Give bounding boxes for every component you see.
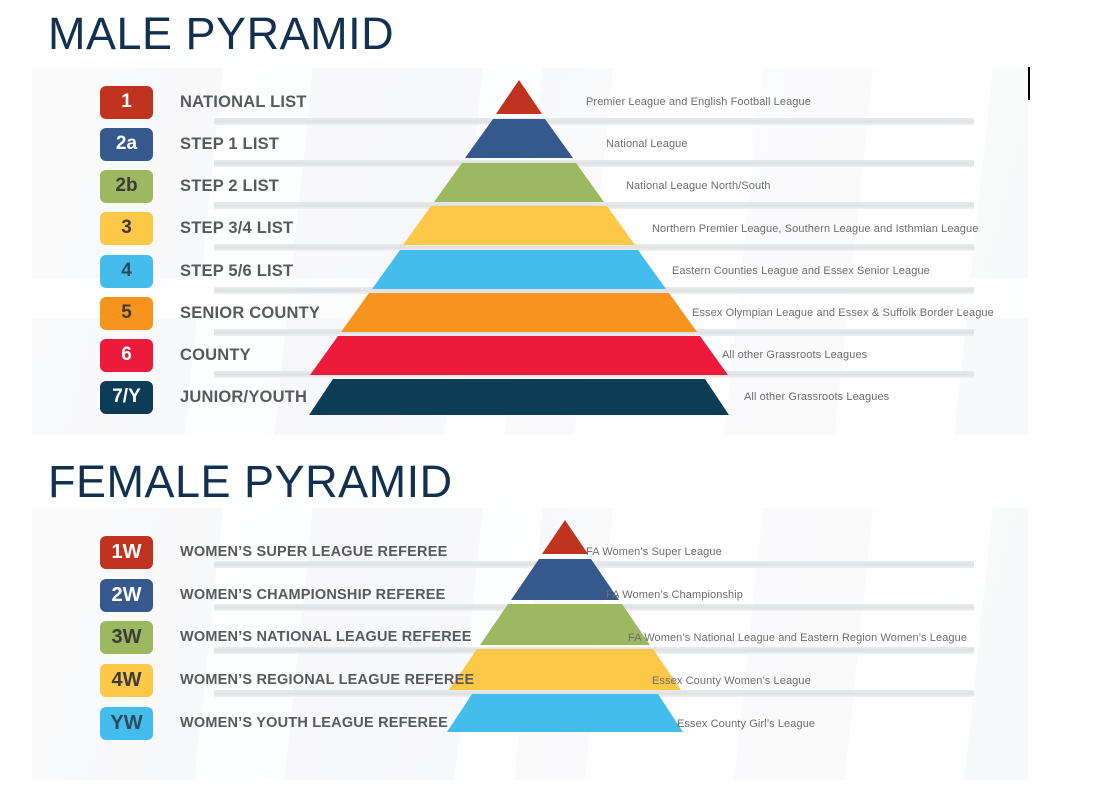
level-badge: 2W [100,579,153,612]
female-section-title: FEMALE PYRAMID [48,456,453,508]
level-label: NATIONAL LIST [180,93,307,112]
table-row[interactable]: 4 STEP 5/6 LIST [32,254,492,288]
level-label: COUNTY [180,346,251,365]
level-badge-text: 4 [121,260,132,282]
level-description: Northern Premier League, Southern League… [652,223,978,235]
level-description: Eastern Counties League and Essex Senior… [672,265,930,277]
table-row[interactable]: 2b STEP 2 LIST [32,169,492,203]
level-badge: 3W [100,621,153,654]
level-badge-text: 4W [112,669,142,692]
level-badge: 5 [100,297,153,330]
table-row[interactable]: 3 STEP 3/4 LIST [32,211,492,245]
table-row[interactable]: 1W WOMEN’S SUPER LEAGUE REFEREE [32,535,492,569]
table-row[interactable]: 4W WOMEN’S REGIONAL LEAGUE REFEREE [32,663,492,697]
level-badge: 3 [100,212,153,245]
level-badge-text: 2a [116,133,137,155]
level-label: WOMEN’S REGIONAL LEAGUE REFEREE [180,672,474,688]
table-row[interactable]: 1 NATIONAL LIST [32,85,492,119]
level-badge-text: 2W [112,584,142,607]
level-label: SENIOR COUNTY [180,304,320,323]
level-badge-text: 2b [115,175,137,197]
level-description: Essex Olympian League and Essex & Suffol… [692,307,994,319]
female-pyramid-panel: 1W WOMEN’S SUPER LEAGUE REFEREE 2W WOMEN… [32,508,1028,780]
table-row[interactable]: 7/Y JUNIOR/YOUTH [32,380,492,414]
level-label: STEP 3/4 LIST [180,219,293,238]
level-badge: 4W [100,664,153,697]
male-section-title: MALE PYRAMID [48,8,394,60]
level-badge: 1W [100,536,153,569]
level-label: WOMEN’S NATIONAL LEAGUE REFEREE [180,629,472,645]
level-description: FA Women’s Championship [606,589,743,601]
level-badge: 2a [100,128,153,161]
male-pyramid-section: MALE PYRAMID 1 [0,0,1096,440]
level-badge-text: 7/Y [112,386,141,408]
level-badge: 4 [100,255,153,288]
level-label: STEP 1 LIST [180,135,279,154]
level-description: Essex County Women’s League [652,675,811,687]
level-description: FA Women’s National League and Eastern R… [628,632,967,644]
level-badge-text: 3W [112,626,142,649]
level-label: STEP 2 LIST [180,177,279,196]
level-description: FA Women’s Super League [586,546,722,558]
level-badge: 7/Y [100,381,153,414]
level-badge-text: 3 [121,217,132,239]
table-row[interactable]: 5 SENIOR COUNTY [32,296,492,330]
level-badge-text: YW [110,712,142,735]
level-description: Essex County Girl’s League [677,718,815,730]
level-label: WOMEN’S YOUTH LEAGUE REFEREE [180,715,448,731]
level-description: Premier League and English Football Leag… [586,96,811,108]
male-level-rows: 1 NATIONAL LIST 2a STEP 1 LIST 2b STEP 2… [32,68,1028,435]
level-badge: 2b [100,170,153,203]
level-badge-text: 6 [121,344,132,366]
text-cursor-caret [1028,67,1030,100]
table-row[interactable]: 2W WOMEN’S CHAMPIONSHIP REFEREE [32,578,492,612]
level-badge-text: 5 [121,302,132,324]
level-description: National League North/South [626,180,771,192]
female-level-rows: 1W WOMEN’S SUPER LEAGUE REFEREE 2W WOMEN… [32,508,1028,780]
level-label: WOMEN’S CHAMPIONSHIP REFEREE [180,587,446,603]
level-badge: 1 [100,86,153,119]
female-pyramid-section: FEMALE PYRAMID 1W WOMEN’S SUPER LEAGUE R… [0,450,1096,790]
level-label: WOMEN’S SUPER LEAGUE REFEREE [180,544,447,560]
table-row[interactable]: 2a STEP 1 LIST [32,127,492,161]
level-badge: YW [100,707,153,740]
level-badge-text: 1 [121,91,132,113]
table-row[interactable]: 6 COUNTY [32,338,492,372]
level-description: All other Grassroots Leagues [744,391,889,403]
male-pyramid-panel: 1 NATIONAL LIST 2a STEP 1 LIST 2b STEP 2… [32,68,1028,435]
level-label: STEP 5/6 LIST [180,262,293,281]
table-row[interactable]: YW WOMEN’S YOUTH LEAGUE REFEREE [32,706,492,740]
level-badge-text: 1W [112,541,142,564]
level-description: National League [606,138,688,150]
level-label: JUNIOR/YOUTH [180,388,307,407]
level-badge: 6 [100,339,153,372]
level-description: All other Grassroots Leagues [722,349,867,361]
table-row[interactable]: 3W WOMEN’S NATIONAL LEAGUE REFEREE [32,620,492,654]
